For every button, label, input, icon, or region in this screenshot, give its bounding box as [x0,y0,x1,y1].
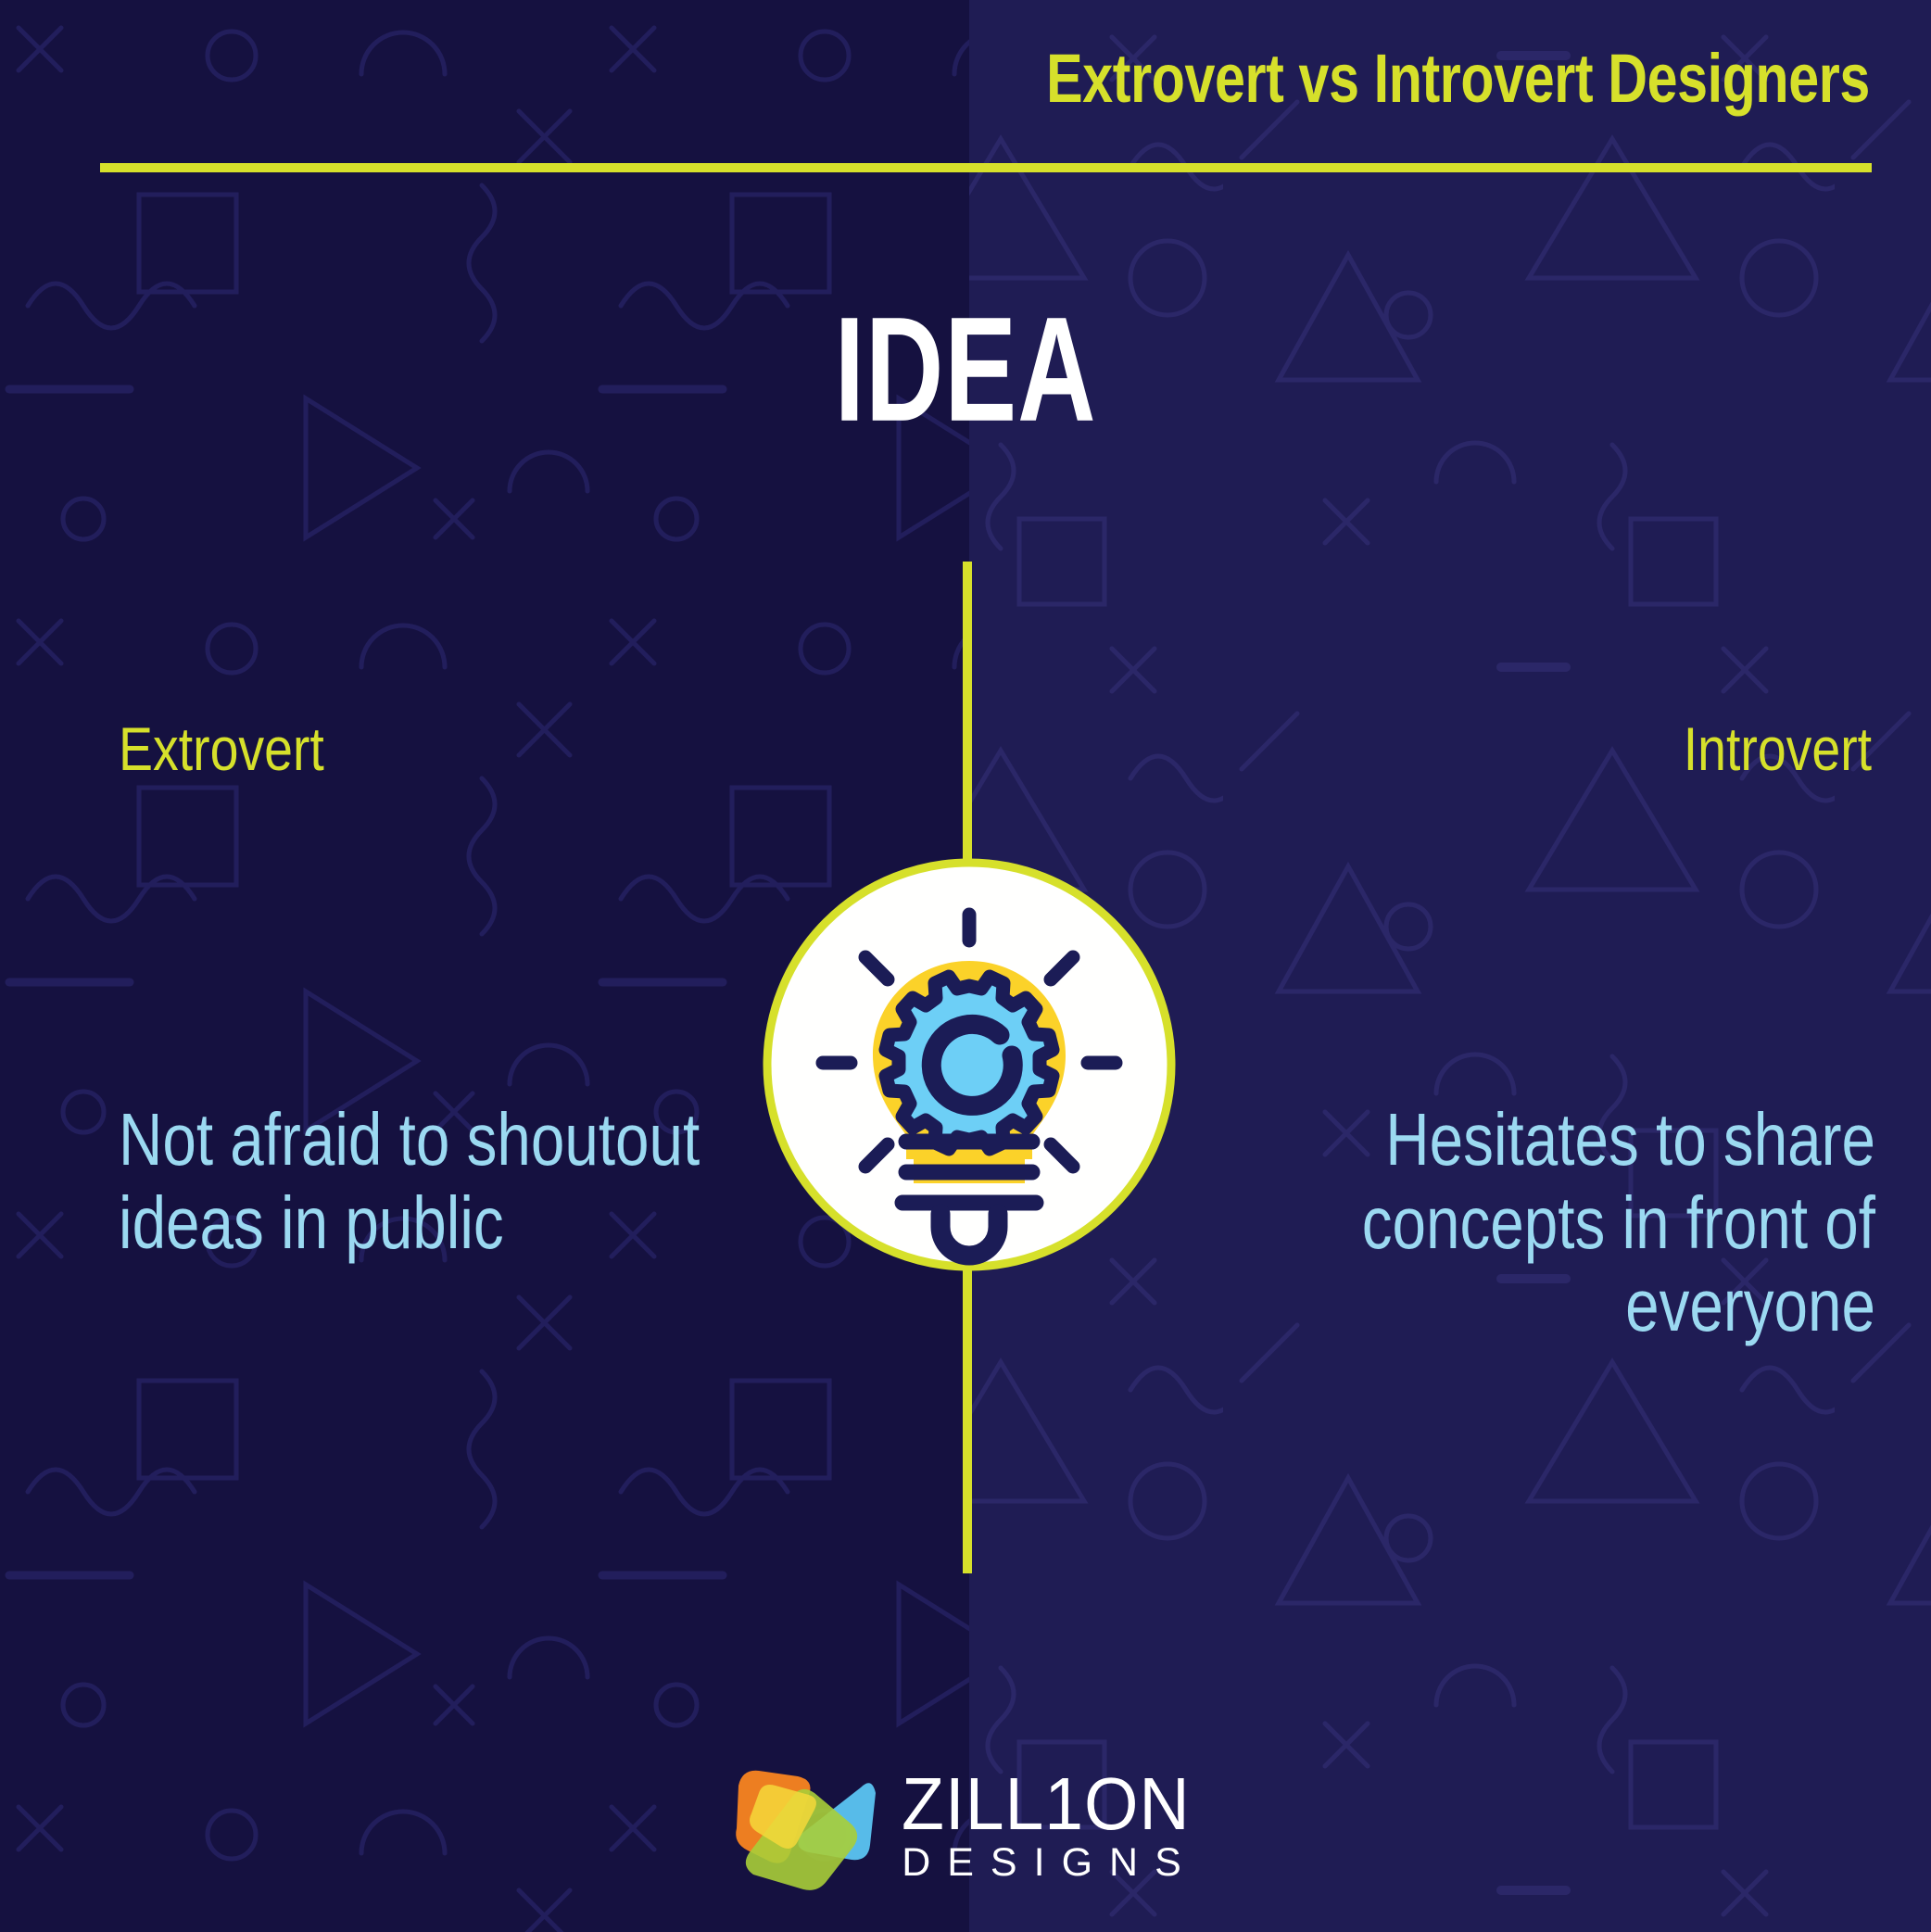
center-connector-line-top [963,562,972,867]
brand-name-secondary: DESIGNS [902,1843,1198,1883]
page-title: IDEA [135,295,1796,443]
footer-brand: ZILL1ON DESIGNS [0,1762,1931,1891]
right-column-body: Hesitates to share concepts in front of … [1192,1098,1875,1347]
zillion-triangle-mark [722,1762,877,1891]
center-connector-line-bottom [963,1258,972,1573]
gear-icon [886,977,1053,1149]
lightbulb-gear-icon [762,857,1177,1272]
brand-name-primary: ZILL1ON [902,1770,1191,1838]
header-title: Extrovert vs Introvert Designers [1046,44,1870,113]
infographic-canvas: Extrovert vs Introvert Designers IDEA Ex… [0,0,1931,1932]
right-column-label: Introvert [1684,718,1872,779]
left-column-body: Not afraid to shoutout ideas in public [119,1098,712,1264]
header-divider-rule [100,163,1872,172]
left-column-label: Extrovert [119,718,324,779]
